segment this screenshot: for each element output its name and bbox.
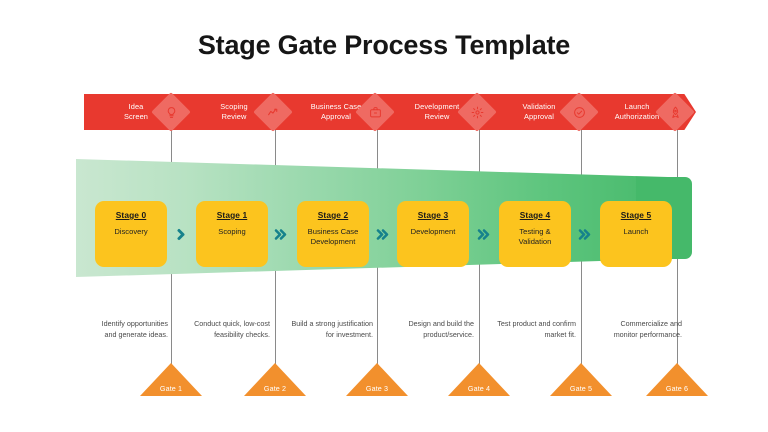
gate-triangle-6[interactable]: Gate 6 bbox=[646, 363, 708, 396]
stage-name: Launch bbox=[620, 227, 653, 237]
gate-triangle-label: Gate 2 bbox=[244, 384, 306, 393]
stage-description-line1: Identify opportunities bbox=[64, 318, 168, 329]
rocket-icon bbox=[667, 104, 683, 120]
briefcase-icon bbox=[367, 104, 383, 120]
slide-canvas: Stage Gate Process Template Idea Screen … bbox=[0, 0, 768, 432]
trend-chart-icon bbox=[265, 104, 281, 120]
gate-triangle-label: Gate 4 bbox=[448, 384, 510, 393]
stage-description-line1: Test product and confirm bbox=[472, 318, 576, 329]
gear-icon bbox=[469, 104, 485, 120]
stage-number: Stage 1 bbox=[217, 210, 248, 220]
check-circle-icon bbox=[571, 104, 587, 120]
stage-card-0[interactable]: Stage 0 Discovery bbox=[95, 201, 167, 267]
gate-triangle-2[interactable]: Gate 2 bbox=[244, 363, 306, 396]
stage-description-line2: product/service. bbox=[370, 329, 474, 340]
stage-card-2[interactable]: Stage 2 Business Case Development bbox=[297, 201, 369, 267]
stage-description-0: Identify opportunities and generate idea… bbox=[64, 318, 168, 340]
gate-header-bar: Idea Screen Scoping Review Business Case… bbox=[84, 94, 696, 130]
gate-header-label-line1: Launch bbox=[625, 102, 650, 112]
stage-description-5: Commercialize and monitor performance. bbox=[578, 318, 682, 340]
stage-name: Discovery bbox=[110, 227, 151, 237]
stage-card-1[interactable]: Stage 1 Scoping bbox=[196, 201, 268, 267]
chevron-right-icon-1 bbox=[174, 228, 188, 241]
gate-triangle-5[interactable]: Gate 5 bbox=[550, 363, 612, 396]
stage-number: Stage 5 bbox=[621, 210, 652, 220]
gate-header-label-line2: Approval bbox=[321, 112, 351, 122]
stage-description-4: Test product and confirm market fit. bbox=[472, 318, 576, 340]
stage-description-line2: monitor performance. bbox=[578, 329, 682, 340]
stage-name: Testing & Validation bbox=[515, 227, 556, 247]
gate-triangle-3[interactable]: Gate 3 bbox=[346, 363, 408, 396]
gate-header-label-line2: Approval bbox=[524, 112, 554, 122]
chevron-right-icon-5 bbox=[578, 228, 592, 241]
stage-description-line2: and generate ideas. bbox=[64, 329, 168, 340]
stage-description-3: Design and build the product/service. bbox=[370, 318, 474, 340]
gate-triangle-4[interactable]: Gate 4 bbox=[448, 363, 510, 396]
gate-header-label-line2: Review bbox=[425, 112, 450, 122]
gate-header-label-line1: Development bbox=[415, 102, 460, 112]
stage-name: Business Case Development bbox=[304, 227, 363, 247]
lightbulb-icon bbox=[163, 104, 179, 120]
stage-card-3[interactable]: Stage 3 Development bbox=[397, 201, 469, 267]
stage-name: Development bbox=[407, 227, 460, 237]
stage-name: Scoping bbox=[214, 227, 249, 237]
gate-triangle-1[interactable]: Gate 1 bbox=[140, 363, 202, 396]
chevron-right-icon-4 bbox=[477, 228, 491, 241]
gate-triangle-label: Gate 6 bbox=[646, 384, 708, 393]
gate-triangle-label: Gate 1 bbox=[140, 384, 202, 393]
stage-description-line1: Build a strong justification bbox=[269, 318, 373, 329]
stage-description-line2: market fit. bbox=[472, 329, 576, 340]
stage-card-4[interactable]: Stage 4 Testing & Validation bbox=[499, 201, 571, 267]
stage-description-1: Conduct quick, low-cost feasibility chec… bbox=[166, 318, 270, 340]
stage-description-2: Build a strong justification for investm… bbox=[269, 318, 373, 340]
gate-header-label-line2: Screen bbox=[124, 112, 148, 122]
stage-number: Stage 3 bbox=[418, 210, 449, 220]
gate-header-label-line1: Validation bbox=[523, 102, 556, 112]
stage-number: Stage 0 bbox=[116, 210, 147, 220]
gate-header-label-line1: Idea bbox=[129, 102, 144, 112]
gate-header-label-line1: Business Case bbox=[311, 102, 362, 112]
stage-card-5[interactable]: Stage 5 Launch bbox=[600, 201, 672, 267]
stage-number: Stage 2 bbox=[318, 210, 349, 220]
chevron-right-icon-3 bbox=[376, 228, 390, 241]
chevron-right-icon-2 bbox=[274, 228, 288, 241]
stage-number: Stage 4 bbox=[520, 210, 551, 220]
stage-description-line1: Conduct quick, low-cost bbox=[166, 318, 270, 329]
gate-header-label-line2: Review bbox=[222, 112, 247, 122]
stage-description-line1: Commercialize and bbox=[578, 318, 682, 329]
gate-header-label-line1: Scoping bbox=[220, 102, 247, 112]
gate-triangle-label: Gate 3 bbox=[346, 384, 408, 393]
stage-description-line2: feasibility checks. bbox=[166, 329, 270, 340]
stage-description-line1: Design and build the bbox=[370, 318, 474, 329]
stage-description-line2: for investment. bbox=[269, 329, 373, 340]
gate-header-label-line2: Authorization bbox=[615, 112, 659, 122]
gate-triangle-label: Gate 5 bbox=[550, 384, 612, 393]
page-title: Stage Gate Process Template bbox=[0, 30, 768, 61]
